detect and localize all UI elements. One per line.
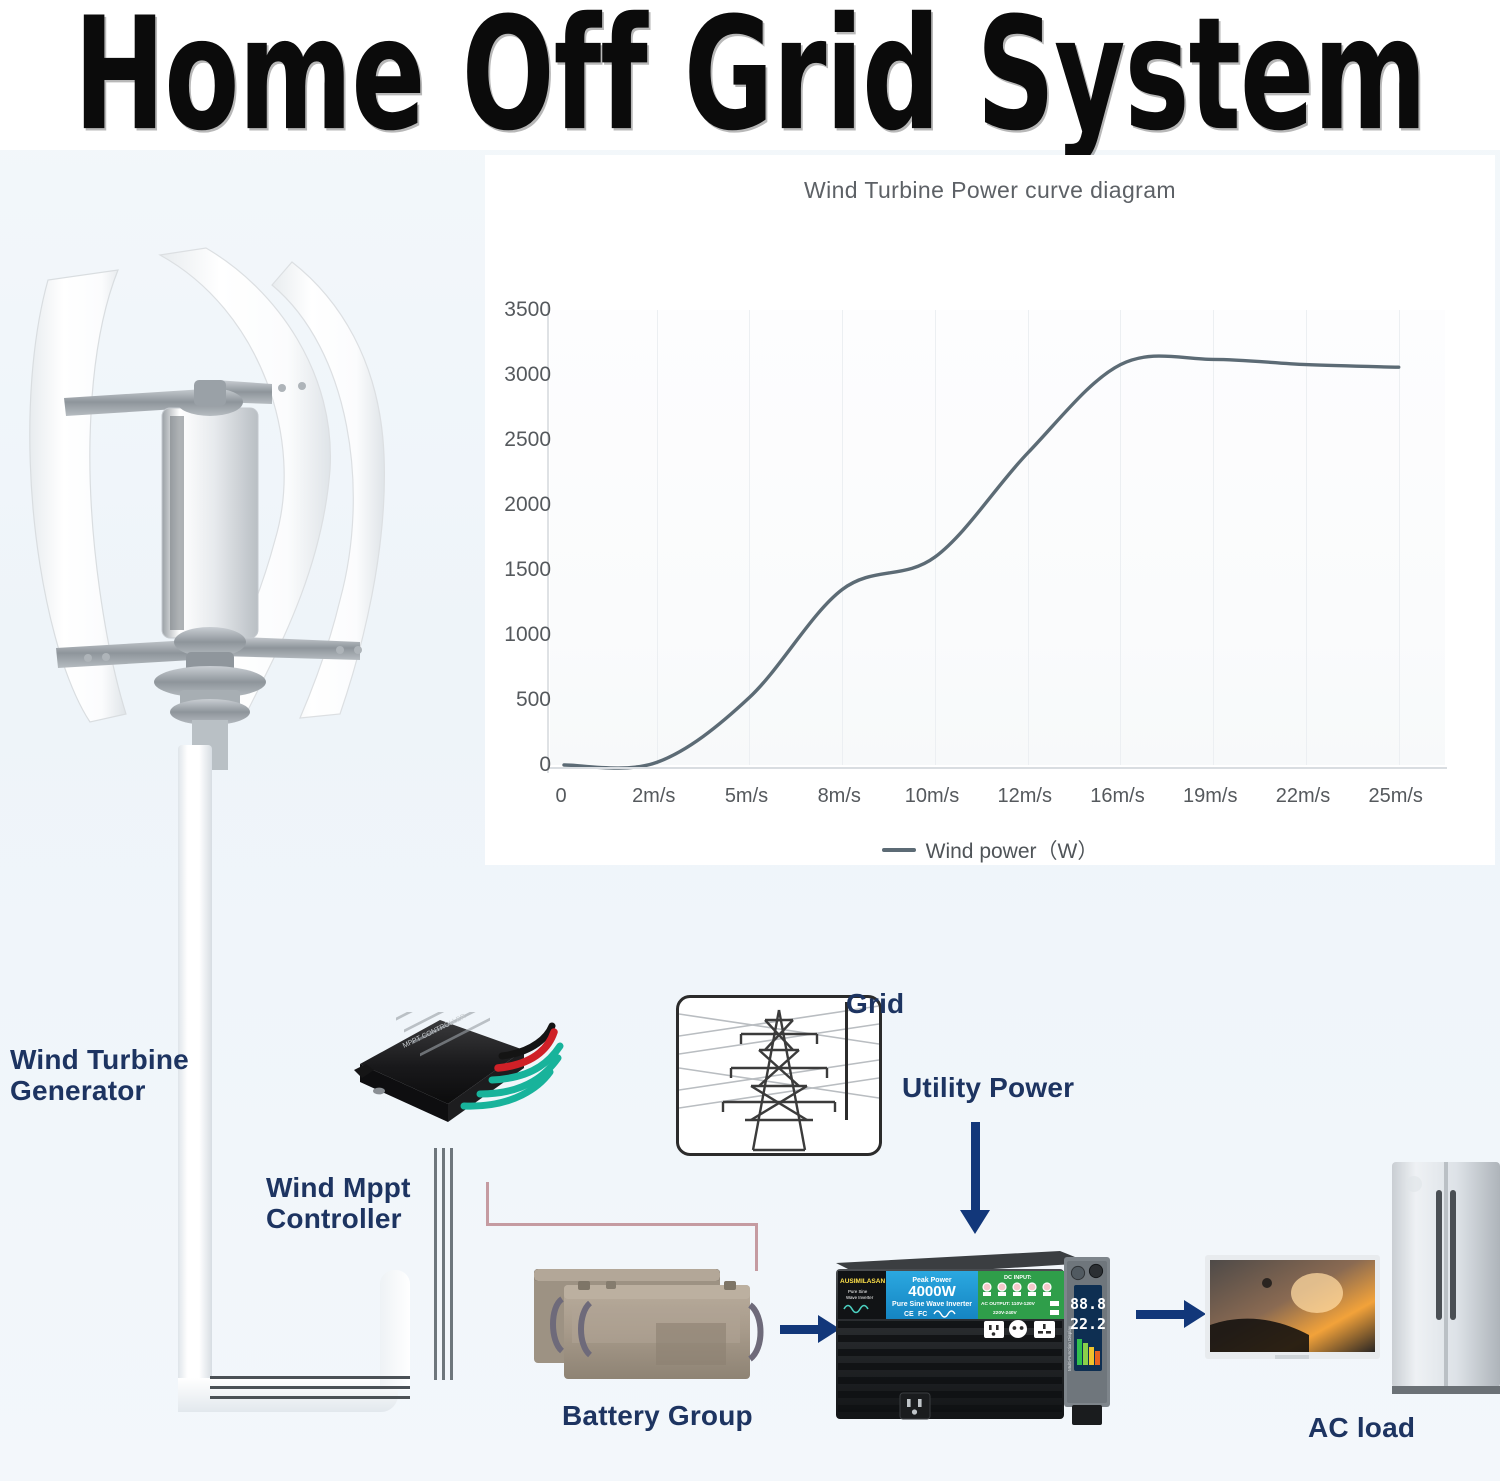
turbine-cable-wire-1: [210, 1376, 410, 1379]
wind-turbine-image: [10, 240, 410, 780]
chart-y-tick: 3000: [504, 363, 551, 387]
chart-y-tick: 500: [516, 688, 551, 712]
svg-text:Pure Sine Wave Inverter: Pure Sine Wave Inverter: [892, 1301, 972, 1308]
chart-x-tick: 2m/s: [632, 785, 675, 808]
svg-text:88.8: 88.8: [1070, 1295, 1106, 1313]
legend-label: Wind power（W）: [926, 835, 1099, 865]
chart-legend: Wind power（W）: [485, 835, 1495, 865]
mppt-to-battery-wire-vertical-left: [486, 1182, 489, 1226]
chart-x-tick: 25m/s: [1368, 785, 1422, 808]
turbine-cable-conduit: [380, 1270, 410, 1390]
chart-y-tick: 2500: [504, 428, 551, 452]
turbine-to-mppt-wire-1: [434, 1148, 437, 1380]
label-grid: Grid: [846, 988, 904, 1019]
battery-svg: [528, 1255, 773, 1390]
label-wind-mppt-controller: Wind Mppt Controller: [266, 1172, 411, 1235]
chart-y-tick: 3500: [504, 298, 551, 322]
chart-x-axis: [547, 767, 1447, 769]
utility-power-arrow-shaft: [971, 1122, 980, 1214]
chart-x-tick: 22m/s: [1276, 785, 1330, 808]
legend-line-swatch: [882, 848, 916, 852]
inverter-to-load-arrow-head: [1184, 1300, 1206, 1328]
chart-x-tick: 12m/s: [997, 785, 1051, 808]
fridge-svg: [1392, 1162, 1500, 1402]
turbine-cable-wire-2: [210, 1386, 410, 1389]
turbine-svg: [10, 240, 410, 780]
svg-text:AC OUTPUT: 110V-120V: AC OUTPUT: 110V-120V: [981, 1301, 1036, 1307]
label-utility-power: Utility Power: [902, 1072, 1074, 1103]
chart-curve: [550, 310, 1445, 765]
mppt-svg: MPPT CONTROLLER: [352, 1012, 572, 1142]
svg-text:Multi-Function Display: Multi-Function Display: [1067, 1325, 1072, 1371]
svg-text:4000W: 4000W: [908, 1283, 956, 1300]
chart-y-tick-labels: 0500100015002000250030003500: [485, 300, 555, 775]
television-image: [1205, 1255, 1380, 1365]
chart-x-tick: 0: [555, 785, 566, 808]
chart-y-tick: 0: [539, 753, 551, 777]
refrigerator-image: [1392, 1162, 1500, 1402]
turbine-pole-base: [178, 1378, 398, 1412]
turbine-to-mppt-wire-2: [442, 1148, 445, 1380]
label-battery-group: Battery Group: [562, 1400, 753, 1431]
chart-title: Wind Turbine Power curve diagram: [485, 177, 1495, 204]
svg-text:Pure Sine: Pure Sine: [848, 1289, 868, 1294]
svg-text:AUSIMILASAN: AUSIMILASAN: [840, 1278, 885, 1285]
chart-x-tick: 10m/s: [905, 785, 959, 808]
svg-text:FC: FC: [918, 1311, 927, 1318]
svg-text:CE: CE: [904, 1311, 914, 1318]
chart-x-tick: 19m/s: [1183, 785, 1237, 808]
turbine-cable-wire-3: [210, 1396, 410, 1399]
chart-y-tick: 1000: [504, 623, 551, 647]
chart-x-tick: 16m/s: [1090, 785, 1144, 808]
chart-x-tick-labels: 02m/s5m/s8m/s10m/s12m/s16m/s19m/s22m/s25…: [547, 777, 1447, 817]
chart-y-tick: 1500: [504, 558, 551, 582]
label-wind-turbine-generator: Wind Turbine Generator: [10, 1044, 189, 1107]
inverter-image: AUSIMILASAN Pure Sine Wave Inverter Peak…: [828, 1243, 1118, 1428]
inverter-svg: AUSIMILASAN Pure Sine Wave Inverter Peak…: [828, 1243, 1118, 1428]
turbine-to-mppt-wire-3: [450, 1148, 453, 1380]
svg-text:22.2: 22.2: [1070, 1315, 1106, 1333]
tv-svg: [1205, 1255, 1380, 1365]
page-title: Home Off Grid System: [74, 0, 1426, 153]
battery-to-inverter-arrow-shaft: [780, 1325, 822, 1334]
mppt-to-battery-wire-horizontal: [486, 1223, 758, 1226]
wind-power-chart-panel: Wind Turbine Power curve diagram 0500100…: [485, 155, 1495, 865]
inverter-to-load-arrow-shaft: [1136, 1310, 1188, 1319]
chart-x-tick: 8m/s: [818, 785, 861, 808]
wind-mppt-controller-image: MPPT CONTROLLER: [352, 1012, 572, 1142]
svg-text:220V-240V: 220V-240V: [993, 1310, 1018, 1316]
title-banner: Home Off Grid System: [0, 0, 1500, 150]
transmission-tower-icon: [679, 998, 879, 1153]
label-ac-load: AC load: [1308, 1412, 1415, 1443]
chart-x-tick: 5m/s: [725, 785, 768, 808]
chart-plot-area: [550, 310, 1445, 765]
chart-y-tick: 2000: [504, 493, 551, 517]
infographic-page: Home Off Grid System Wind Turbine Power …: [0, 0, 1500, 1481]
utility-power-arrow-head: [960, 1210, 990, 1234]
grid-label-leader-line: [845, 1002, 848, 1120]
svg-text:Wave Inverter: Wave Inverter: [846, 1295, 874, 1300]
battery-group-image: [528, 1255, 773, 1390]
svg-text:DC INPUT:: DC INPUT:: [1004, 1275, 1032, 1281]
